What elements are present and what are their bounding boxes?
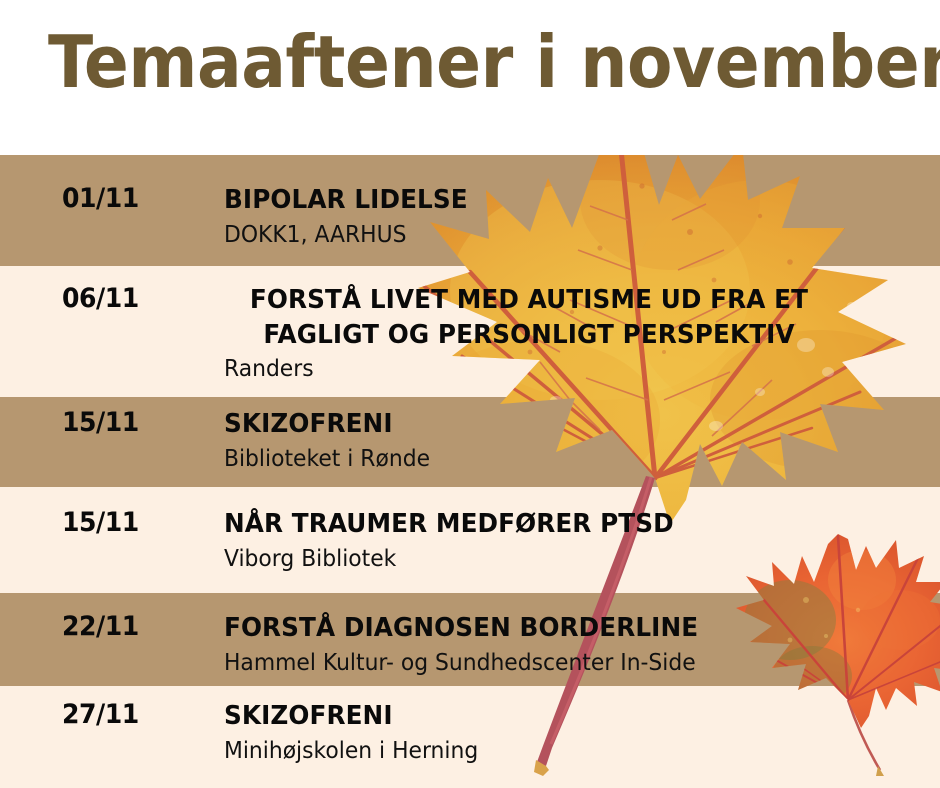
event-venue: Minihøjskolen i Herning [224,734,794,766]
header: Temaaftener i november [0,0,940,155]
event-title: BIPOLAR LIDELSE [224,183,794,218]
event-title: SKIZOFRENI [224,407,794,442]
event-body: NÅR TRAUMER MEDFØRER PTSD Viborg Bibliot… [224,507,824,574]
event-body: SKIZOFRENI Biblioteket i Rønde [224,407,824,474]
event-venue: Hammel Kultur- og Sundhedscenter In-Side [224,646,794,678]
event-body: FORSTÅ DIAGNOSEN BORDERLINE Hammel Kultu… [224,611,824,678]
event-date: 01/11 [62,183,202,214]
event-venue: DOKK1, AARHUS [224,218,794,250]
event-title: SKIZOFRENI [224,699,794,734]
event-body: FORSTÅ LIVET MED AUTISME UD FRA ET FAGLI… [224,283,844,385]
event-date: 15/11 [62,407,202,438]
event-date: 22/11 [62,611,202,642]
event-date: 27/11 [62,699,202,730]
event-title: NÅR TRAUMER MEDFØRER PTSD [224,507,794,542]
event-date: 06/11 [62,283,202,314]
event-venue: Viborg Bibliotek [224,542,794,574]
event-title: FORSTÅ DIAGNOSEN BORDERLINE [224,611,794,646]
event-body: BIPOLAR LIDELSE DOKK1, AARHUS [224,183,824,250]
poster-canvas: Temaaftener i november 01/11 BIPOLAR LID… [0,0,940,788]
event-date: 15/11 [62,507,202,538]
event-body: SKIZOFRENI Minihøjskolen i Herning [224,699,824,766]
page-title: Temaaftener i november [48,26,940,98]
event-title: FORSTÅ LIVET MED AUTISME UD FRA ET FAGLI… [230,283,829,352]
event-venue: Randers [224,352,813,384]
event-venue: Biblioteket i Rønde [224,442,794,474]
